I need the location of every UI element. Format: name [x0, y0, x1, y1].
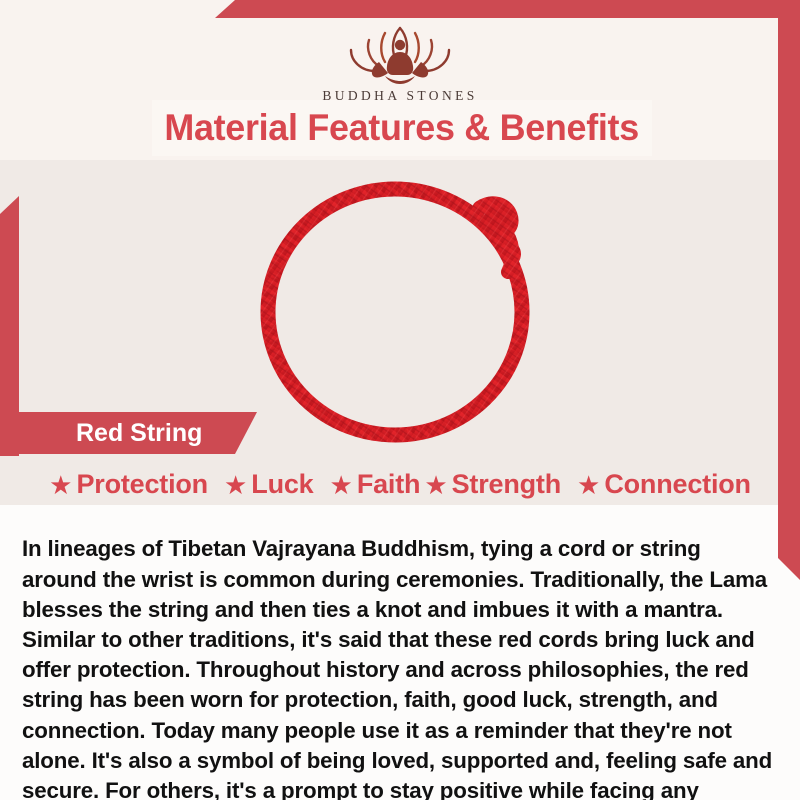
product-label-ribbon: Red String	[19, 412, 257, 454]
infographic-poster: BUDDHA STONES Material Features & Benefi…	[0, 0, 800, 800]
feature-item-luck: ★ Luck	[224, 469, 314, 500]
feature-item-strength: ★ Strength	[424, 469, 561, 500]
page-title: Material Features & Benefits	[165, 107, 640, 149]
star-icon: ★	[330, 472, 353, 498]
star-icon: ★	[49, 472, 72, 498]
star-icon: ★	[424, 472, 447, 498]
feature-label: Protection	[76, 469, 208, 500]
feature-label: Luck	[251, 469, 313, 500]
lotus-meditation-figure-icon	[0, 14, 800, 86]
feature-list: ★ Protection ★ Luck ★ Faith ★ Strength ★…	[0, 464, 800, 505]
feature-label: Strength	[452, 469, 561, 500]
feature-label: Connection	[604, 469, 751, 500]
description-paragraph: In lineages of Tibetan Vajrayana Buddhis…	[22, 534, 778, 800]
product-label: Red String	[19, 419, 202, 448]
star-icon: ★	[224, 472, 247, 498]
brand-logo: BUDDHA STONES	[0, 14, 800, 104]
feature-item-protection: ★ Protection	[49, 469, 208, 500]
title-banner: Material Features & Benefits	[152, 100, 652, 156]
star-icon: ★	[577, 472, 600, 498]
feature-item-connection: ★ Connection	[577, 469, 751, 500]
feature-label: Faith	[357, 469, 421, 500]
feature-item-faith: ★ Faith	[330, 469, 421, 500]
